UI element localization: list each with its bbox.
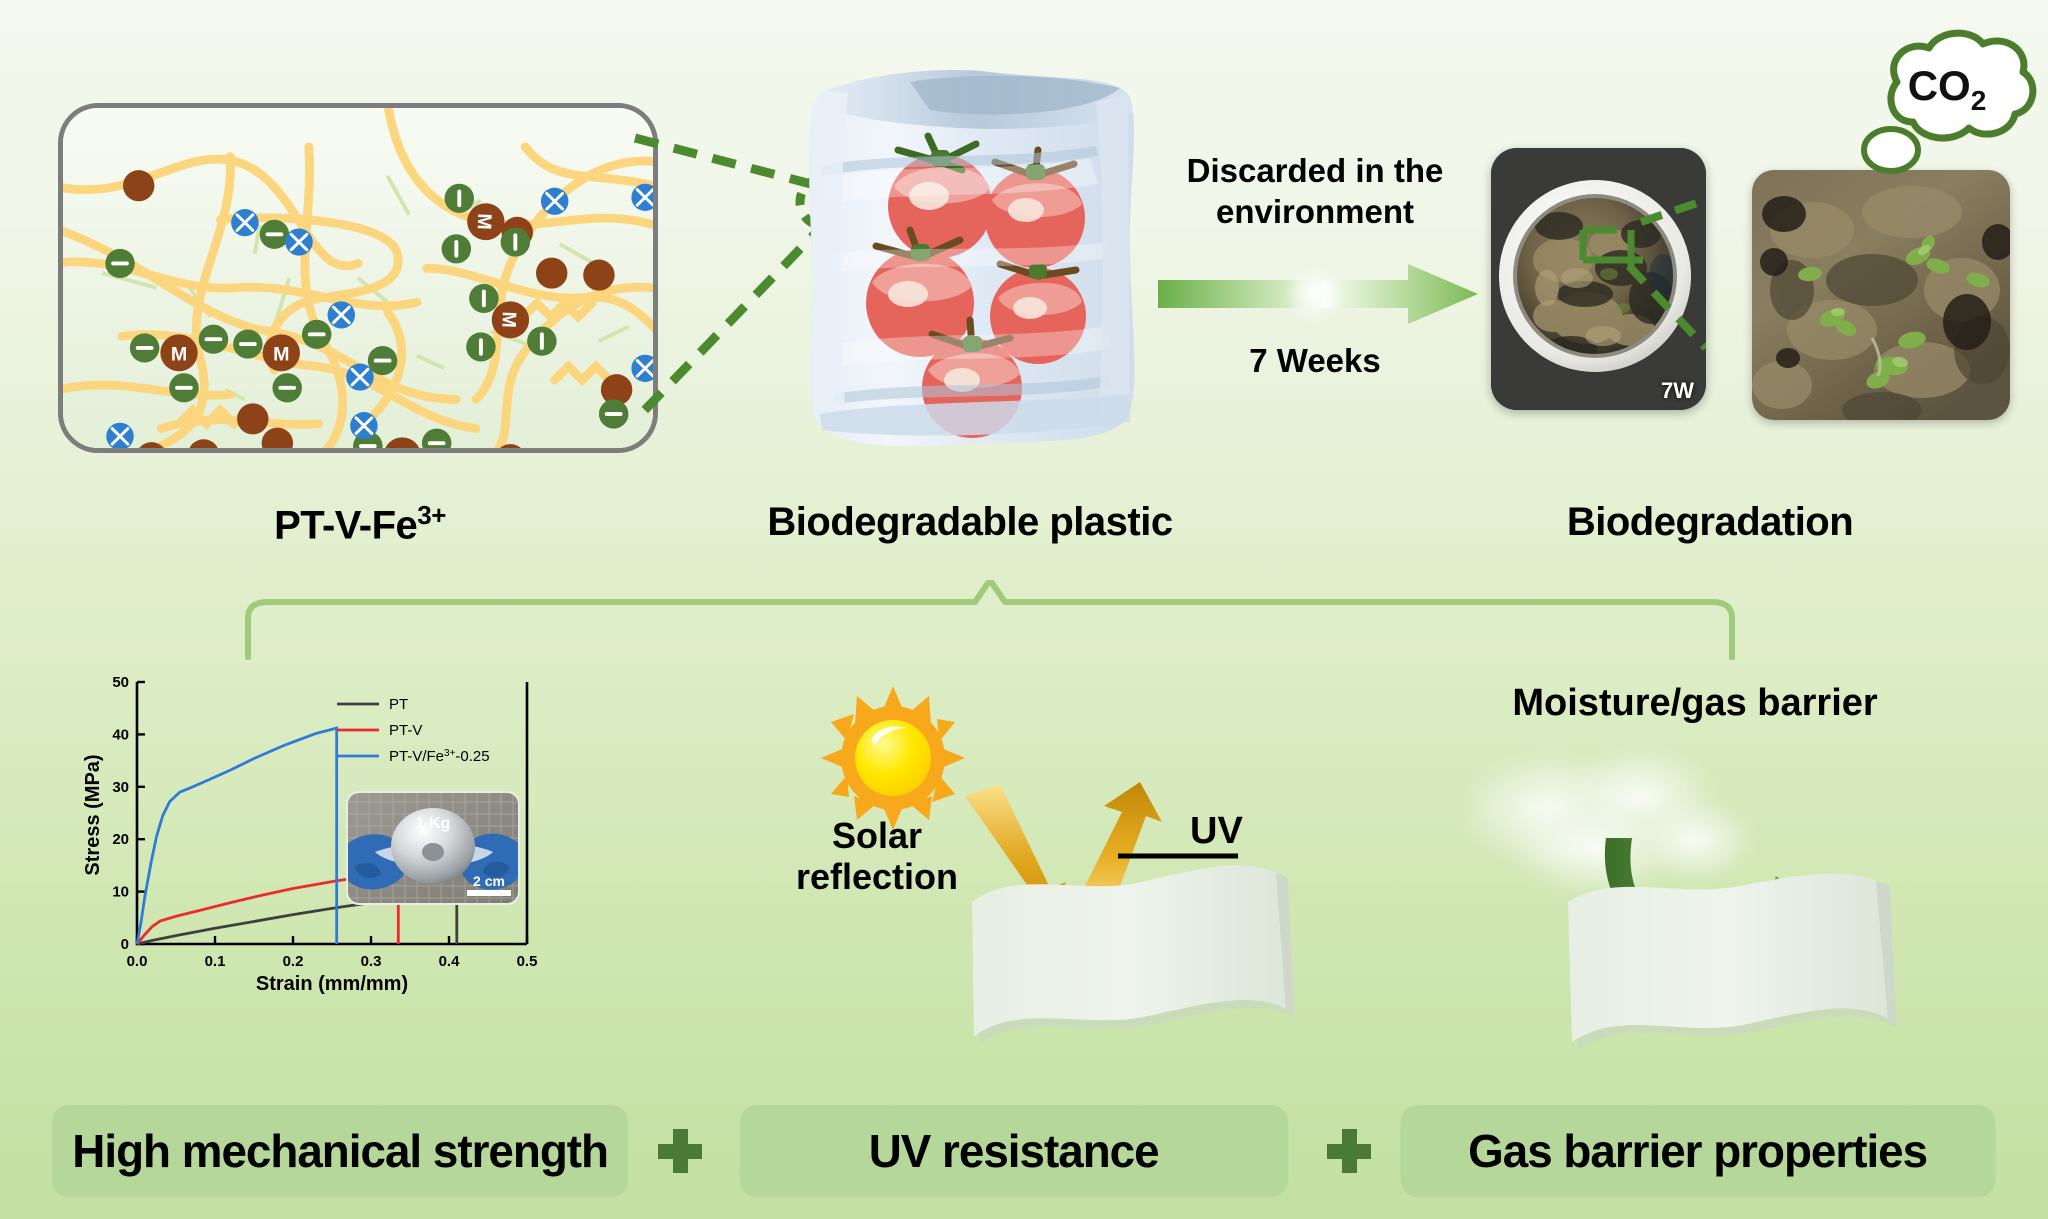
bracket-connector [240, 580, 1740, 660]
soil-image [1752, 170, 2010, 420]
chart-x-tick: 0.5 [517, 953, 538, 970]
chart-inset-photo: 1 Kg 2 cm [343, 792, 521, 904]
chart-x-tick: 0.1 [205, 953, 226, 970]
discard-caption: Discarded in the environment [1150, 150, 1480, 233]
polymer-network-diagram: M M M [63, 108, 653, 448]
plus-icon-1 [650, 1105, 709, 1197]
benefits-banner: High mechanical strength UV resistance G… [30, 1105, 2018, 1197]
uv-label: UV [1190, 810, 1243, 853]
chart-y-tick: 10 [112, 884, 129, 901]
chart-svg: 0.00.10.20.30.40.501020304050 Stress (MP… [75, 660, 575, 1050]
plus-icon-2 [1319, 1105, 1378, 1197]
compost-petri-dish-photo: 7W [1491, 148, 1706, 410]
sun-icon [821, 686, 965, 830]
uv-resistance-panel: Solar reflection UV [760, 660, 1330, 1060]
chart-y-tick: 0 [121, 936, 129, 953]
discard-in-environment-block: Discarded in the environment 7 Wee [1150, 150, 1480, 400]
barrier-title: Moisture/gas barrier [1430, 682, 1960, 725]
svg-text:M: M [473, 213, 496, 230]
barrier-film-sheet [1568, 873, 1896, 1050]
chart-y-tick: 50 [112, 674, 129, 691]
week-badge: 7W [1661, 378, 1694, 404]
green-process-arrow [1158, 262, 1478, 326]
benefit-pill-mechanical[interactable]: High mechanical strength [52, 1105, 629, 1197]
inset-weight-label: 1 Kg [416, 815, 451, 832]
moisture-cloud [1455, 743, 1757, 898]
figure-canvas: M M M [0, 0, 2048, 1219]
svg-text:M: M [497, 311, 520, 328]
tomato-package [790, 58, 1150, 458]
package-illustration [790, 58, 1150, 458]
chart-y-axis-label: Stress (MPa) [82, 754, 104, 875]
duration-label: 7 Weeks [1150, 342, 1480, 380]
chart-x-tick: 0.4 [439, 953, 461, 970]
chart-x-axis-label: Strain (mm/mm) [256, 973, 408, 995]
benefit-pill-uv[interactable]: UV resistance [740, 1105, 1289, 1197]
chart-x-tick: 0.3 [361, 953, 382, 970]
chart-y-tick: 30 [112, 779, 129, 796]
legend-label: PT [389, 696, 408, 713]
co2-small-bubble [1856, 120, 1926, 180]
benefit-pill-gas[interactable]: Gas barrier properties [1400, 1105, 1995, 1197]
uv-film-sheet [972, 865, 1294, 1044]
dish-image [1491, 148, 1706, 410]
inset-scale-label: 2 cm [473, 873, 505, 889]
chart-y-tick: 40 [112, 726, 129, 743]
svg-text:M: M [171, 344, 187, 366]
gas-barrier-panel: Moisture/gas barrier [1430, 680, 1960, 1060]
svg-text:M: M [394, 447, 410, 448]
title-biodegradation: Biodegradation [1440, 500, 1980, 545]
title-pt-v-fe: PT-V-Fe3+ [120, 500, 600, 548]
chart-x-tick: 0.0 [127, 953, 148, 970]
legend-label: PT-V [389, 722, 422, 739]
soil-seedlings-photo [1752, 170, 2010, 420]
legend-label: PT-V/Fe3+-0.25 [389, 748, 490, 766]
solar-reflection-label: Solar reflection [772, 815, 982, 898]
barrier-illustration [1430, 680, 1960, 1060]
stress-strain-chart: 0.00.10.20.30.40.501020304050 Stress (MP… [75, 660, 575, 1050]
polymer-network-box: M M M [58, 103, 658, 453]
title-biodegradable-plastic: Biodegradable plastic [690, 500, 1250, 545]
chart-y-tick: 20 [112, 831, 129, 848]
chart-x-tick: 0.2 [283, 953, 304, 970]
svg-text:M: M [273, 344, 289, 366]
